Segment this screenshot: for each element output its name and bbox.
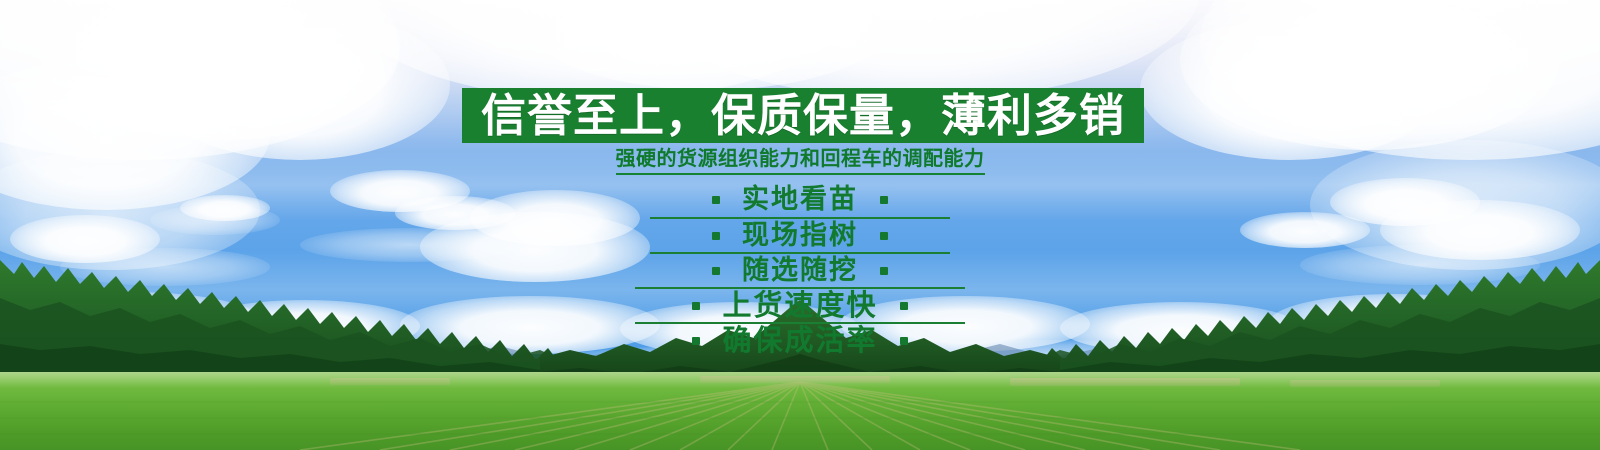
crop-field: [0, 372, 1600, 450]
bullet-dot-icon: [900, 302, 908, 310]
bullet-dot-icon: [712, 232, 720, 240]
feature-item: 随选随挖: [650, 252, 950, 287]
headline-text: 信誉至上，保质保量，薄利多销: [481, 93, 1125, 138]
feature-label: 实地看苗: [742, 186, 858, 213]
bullet-dot-icon: [880, 232, 888, 240]
feature-label: 上货速度快: [722, 291, 877, 320]
bullet-dot-icon: [900, 337, 908, 345]
feature-item: 现场指树: [650, 217, 950, 252]
feature-item: 实地看苗: [650, 182, 950, 217]
bullet-dot-icon: [692, 302, 700, 310]
feature-label: 随选随挖: [742, 257, 858, 284]
feature-label: 现场指树: [742, 222, 858, 249]
bullet-dot-icon: [880, 267, 888, 275]
bullet-dot-icon: [880, 196, 888, 204]
feature-item: 上货速度快: [635, 287, 965, 322]
crop-rows: [0, 372, 1600, 450]
bullet-dot-icon: [692, 337, 700, 345]
feature-list: 实地看苗 现场指树 随选随挖 上货速度快 确保成活率: [0, 182, 1600, 357]
headline-bar: 信誉至上，保质保量，薄利多销: [462, 88, 1144, 143]
feature-label: 确保成活率: [722, 326, 877, 355]
subtitle-wrapper: 强硬的货源组织能力和回程车的调配能力: [0, 147, 1600, 175]
bullet-dot-icon: [712, 267, 720, 275]
subtitle-text: 强硬的货源组织能力和回程车的调配能力: [616, 147, 985, 175]
promo-banner: 信誉至上，保质保量，薄利多销 强硬的货源组织能力和回程车的调配能力 实地看苗 现…: [0, 0, 1600, 450]
bullet-dot-icon: [712, 196, 720, 204]
feature-item: 确保成活率: [635, 322, 965, 357]
